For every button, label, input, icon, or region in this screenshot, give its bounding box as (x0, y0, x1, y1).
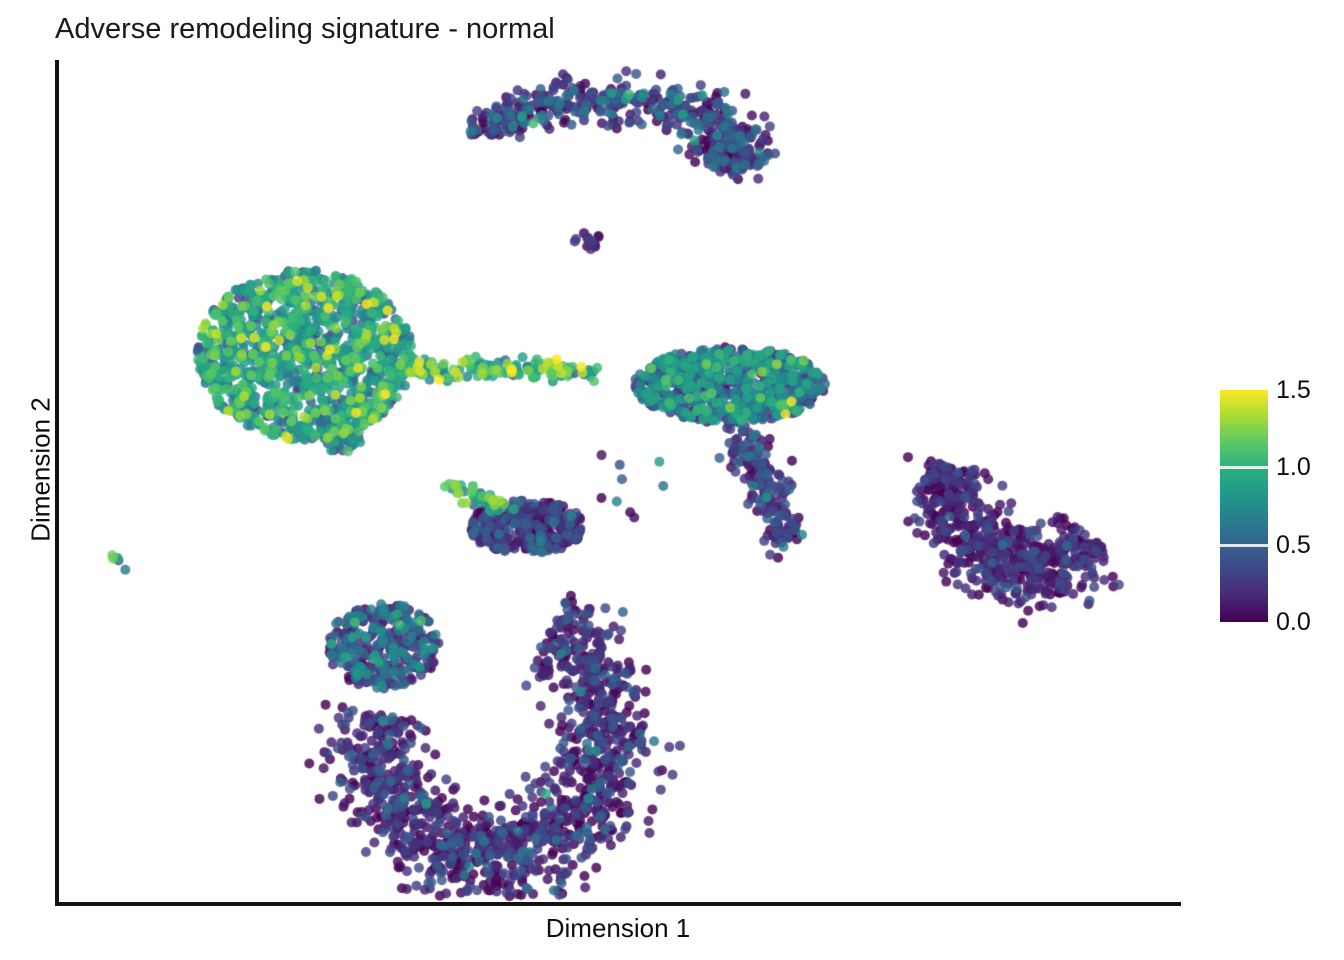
colorbar-tick-label: 1.0 (1276, 455, 1311, 480)
colorbar-tick-label: 0.5 (1276, 533, 1311, 558)
page-title: Adverse remodeling signature - normal (55, 12, 555, 46)
colorbar-tick-mark (1220, 544, 1268, 547)
colorbar-tick-label: 0.0 (1276, 610, 1311, 635)
x-axis-label: Dimension 1 (55, 913, 1181, 944)
colorbar-tick-label: 1.5 (1276, 378, 1311, 403)
plot-panel (55, 60, 1181, 904)
colorbar-gradient (1220, 390, 1268, 622)
colorbar-tick-mark (1220, 466, 1268, 469)
y-axis-label: Dimension 2 (26, 345, 57, 595)
x-axis-line (55, 902, 1181, 906)
scatter-plot-figure: Adverse remodeling signature - normal Di… (0, 0, 1344, 960)
colorbar-legend: 1.51.00.50.0 (1214, 376, 1334, 638)
